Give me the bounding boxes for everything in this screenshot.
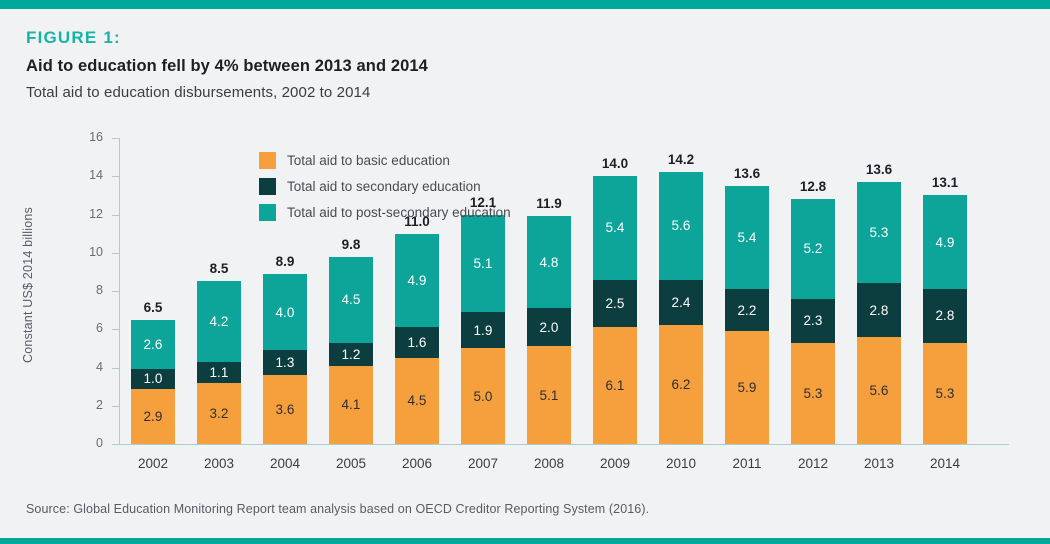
y-tick-label: 10 — [63, 245, 103, 259]
chart-legend: Total aid to basic education Total aid t… — [259, 152, 511, 230]
legend-label-post-secondary: Total aid to post-secondary education — [287, 205, 511, 220]
bar-segment-basic[interactable]: 2.9 — [131, 389, 175, 444]
bar-group[interactable]: 5.62.85.313.62013 — [857, 138, 901, 444]
y-tick-label: 8 — [63, 283, 103, 297]
bar-segment-secondary[interactable]: 2.4 — [659, 280, 703, 326]
y-tick-label: 16 — [63, 130, 103, 144]
legend-item-basic: Total aid to basic education — [259, 152, 511, 169]
legend-item-post-secondary: Total aid to post-secondary education — [259, 204, 511, 221]
bar-segment-secondary[interactable]: 1.1 — [197, 362, 241, 383]
bar-segment-secondary[interactable]: 2.8 — [923, 289, 967, 343]
bar-segment-basic[interactable]: 5.3 — [791, 343, 835, 444]
bar-segment-secondary[interactable]: 1.2 — [329, 343, 373, 366]
bar-segment-post[interactable]: 4.0 — [263, 274, 307, 351]
legend-label-basic: Total aid to basic education — [287, 153, 450, 168]
plot-region: 0246810121416 2.91.02.66.520023.21.14.28… — [119, 138, 1009, 444]
bar-segment-secondary[interactable]: 2.5 — [593, 280, 637, 328]
bar-segment-secondary[interactable]: 2.2 — [725, 289, 769, 331]
bar-segment-basic[interactable]: 6.1 — [593, 327, 637, 444]
y-tick-mark — [112, 253, 119, 254]
bar-segment-basic[interactable]: 5.0 — [461, 348, 505, 444]
figure-title: Aid to education fell by 4% between 2013… — [26, 57, 1006, 76]
y-tick-mark — [112, 444, 119, 445]
bar-segment-post[interactable]: 2.6 — [131, 320, 175, 370]
bar-segment-basic[interactable]: 3.2 — [197, 383, 241, 444]
bar-segment-basic[interactable]: 5.1 — [527, 346, 571, 444]
bar-group[interactable]: 6.12.55.414.02009 — [593, 138, 637, 444]
y-tick-label: 14 — [63, 168, 103, 182]
bar-segment-secondary[interactable]: 1.6 — [395, 327, 439, 358]
bar-segment-post[interactable]: 4.2 — [197, 281, 241, 361]
bar-segment-post[interactable]: 4.9 — [395, 234, 439, 328]
bar-total-label: 13.6 — [844, 162, 914, 177]
bar-segment-basic[interactable]: 5.6 — [857, 337, 901, 444]
bar-group[interactable]: 5.12.04.811.92008 — [527, 138, 571, 444]
bar-segment-basic[interactable]: 5.3 — [923, 343, 967, 444]
bar-total-label: 14.2 — [646, 152, 716, 167]
figure-label: FIGURE 1: — [26, 28, 1006, 48]
bar-group[interactable]: 2.91.02.66.52002 — [131, 138, 175, 444]
x-axis-line — [119, 444, 1009, 445]
bar-segment-post[interactable]: 4.8 — [527, 216, 571, 308]
bar-segment-secondary[interactable]: 1.0 — [131, 369, 175, 388]
x-axis-label: 2014 — [905, 456, 985, 471]
bar-total-label: 13.6 — [712, 166, 782, 181]
bar-segment-post[interactable]: 5.3 — [857, 182, 901, 283]
legend-swatch-post-secondary-icon — [259, 204, 276, 221]
bar-segment-secondary[interactable]: 2.0 — [527, 308, 571, 346]
bar-segment-post[interactable]: 4.5 — [329, 257, 373, 343]
y-tick-mark — [112, 406, 119, 407]
bar-segment-secondary[interactable]: 1.3 — [263, 350, 307, 375]
top-accent-bar — [0, 0, 1050, 9]
y-tick-mark — [112, 138, 119, 139]
legend-item-secondary: Total aid to secondary education — [259, 178, 511, 195]
bar-segment-post[interactable]: 4.9 — [923, 195, 967, 289]
legend-swatch-secondary-icon — [259, 178, 276, 195]
y-tick-mark — [112, 215, 119, 216]
y-tick-label: 0 — [63, 436, 103, 450]
bar-segment-post[interactable]: 5.6 — [659, 172, 703, 279]
bar-segment-secondary[interactable]: 2.8 — [857, 283, 901, 337]
bar-total-label: 6.5 — [118, 300, 188, 315]
y-tick-label: 4 — [63, 360, 103, 374]
bar-total-label: 8.9 — [250, 254, 320, 269]
legend-swatch-basic-icon — [259, 152, 276, 169]
bar-series-container: 2.91.02.66.520023.21.14.28.520033.61.34.… — [119, 138, 1009, 444]
bar-segment-post[interactable]: 5.4 — [593, 176, 637, 279]
y-axis-title: Constant US$ 2014 billions — [21, 175, 35, 395]
bar-segment-post[interactable]: 5.2 — [791, 199, 835, 298]
bar-segment-basic[interactable]: 5.9 — [725, 331, 769, 444]
bar-segment-post[interactable]: 5.4 — [725, 186, 769, 289]
y-tick-mark — [112, 176, 119, 177]
bar-group[interactable]: 6.22.45.614.22010 — [659, 138, 703, 444]
figure-subtitle: Total aid to education disbursements, 20… — [26, 84, 1006, 101]
y-tick-label: 6 — [63, 321, 103, 335]
bar-total-label: 13.1 — [910, 175, 980, 190]
y-tick-label: 12 — [63, 207, 103, 221]
bar-segment-basic[interactable]: 3.6 — [263, 375, 307, 444]
y-tick-mark — [112, 329, 119, 330]
bar-segment-secondary[interactable]: 2.3 — [791, 299, 835, 343]
bar-total-label: 11.9 — [514, 196, 584, 211]
bar-segment-basic[interactable]: 6.2 — [659, 325, 703, 444]
bar-group[interactable]: 5.32.35.212.82012 — [791, 138, 835, 444]
bottom-accent-bar — [0, 538, 1050, 544]
bar-total-label: 14.0 — [580, 156, 650, 171]
bar-total-label: 9.8 — [316, 237, 386, 252]
bar-group[interactable]: 5.92.25.413.62011 — [725, 138, 769, 444]
bar-group[interactable]: 3.21.14.28.52003 — [197, 138, 241, 444]
bar-group[interactable]: 5.32.84.913.12014 — [923, 138, 967, 444]
y-tick-mark — [112, 291, 119, 292]
chart-area: Constant US$ 2014 billions 0246810121416… — [0, 128, 1050, 478]
y-tick-label: 2 — [63, 398, 103, 412]
bar-total-label: 12.8 — [778, 179, 848, 194]
bar-segment-basic[interactable]: 4.1 — [329, 366, 373, 444]
bar-segment-basic[interactable]: 4.5 — [395, 358, 439, 444]
bar-total-label: 8.5 — [184, 261, 254, 276]
y-tick-mark — [112, 368, 119, 369]
source-note: Source: Global Education Monitoring Repo… — [26, 502, 649, 516]
bar-segment-secondary[interactable]: 1.9 — [461, 312, 505, 348]
figure-header: FIGURE 1: Aid to education fell by 4% be… — [26, 28, 1006, 101]
legend-label-secondary: Total aid to secondary education — [287, 179, 481, 194]
